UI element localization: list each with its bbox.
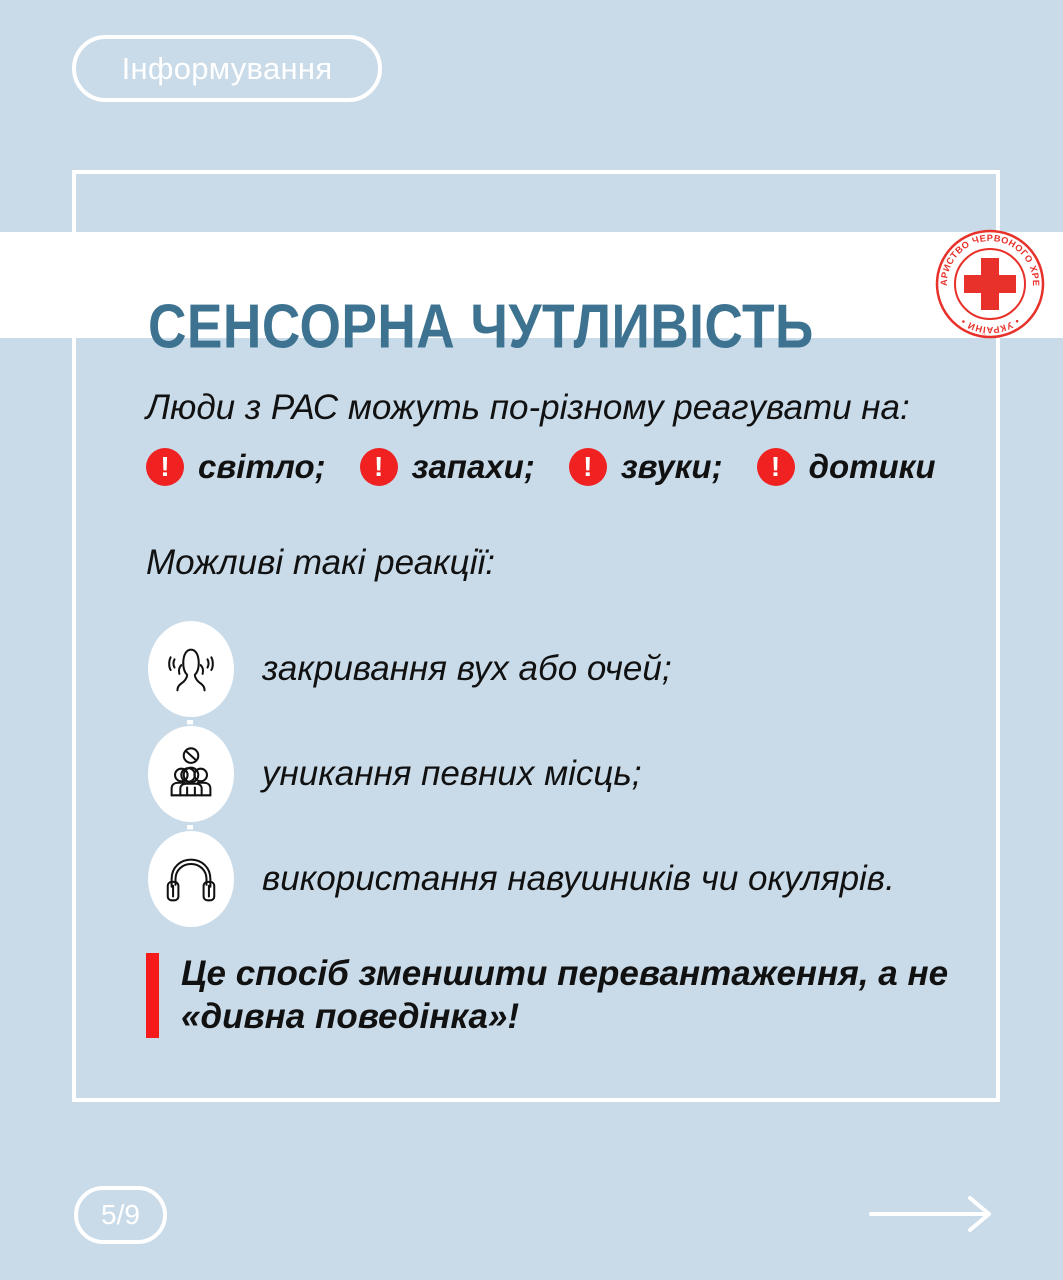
- ukrainian-red-cross-logo: ТОВАРИСТВО ЧЕРВОНОГО ХРЕСТА • УКРАЇНИ •: [934, 228, 1046, 340]
- trigger-label: світло;: [198, 448, 326, 486]
- page-indicator-badge: 5/9: [74, 1186, 167, 1244]
- category-pill: Інформування: [72, 35, 382, 102]
- reaction-item: використання навушників чи окулярів.: [148, 826, 968, 931]
- trigger-label: дотики: [809, 448, 936, 486]
- reaction-label: закривання вух або очей;: [262, 649, 672, 689]
- reaction-item: закривання вух або очей;: [148, 616, 968, 721]
- page-title: СЕНСОРНА ЧУТЛИВІСТЬ: [148, 291, 814, 362]
- lead-text: Люди з РАС можуть по-різному реагувати н…: [146, 388, 910, 428]
- covering-ears-icon: [148, 621, 234, 717]
- reactions-lead-text: Можливі такі реакції:: [146, 543, 495, 583]
- trigger-label: запахи;: [412, 448, 535, 486]
- exclamation-icon: !: [146, 448, 184, 486]
- trigger-list: ! світло; ! запахи; ! звуки; ! дотики: [146, 448, 936, 486]
- callout: Це спосіб зменшити перевантаження, а не …: [146, 953, 961, 1038]
- callout-text: Це спосіб зменшити перевантаження, а не …: [181, 953, 961, 1038]
- reaction-label: уникання певних місць;: [262, 754, 642, 794]
- headphones-icon: [148, 831, 234, 927]
- exclamation-icon: !: [569, 448, 607, 486]
- category-pill-label: Інформування: [122, 51, 333, 87]
- exclamation-icon: !: [360, 448, 398, 486]
- trigger-item: ! світло;: [146, 448, 326, 486]
- reaction-item: уникання певних місць;: [148, 721, 968, 826]
- trigger-label: звуки;: [621, 448, 723, 486]
- trigger-item: ! звуки;: [569, 448, 723, 486]
- callout-accent-bar: [146, 953, 159, 1038]
- arrow-right-icon[interactable]: [867, 1192, 997, 1236]
- title-band: СЕНСОРНА ЧУТЛИВІСТЬ: [0, 232, 1063, 338]
- avoid-crowd-icon: [148, 726, 234, 822]
- reaction-label: використання навушників чи окулярів.: [262, 859, 895, 899]
- reaction-list: закривання вух або очей;: [148, 616, 968, 931]
- exclamation-icon: !: [757, 448, 795, 486]
- trigger-item: ! запахи;: [360, 448, 535, 486]
- page-indicator-label: 5/9: [101, 1199, 140, 1231]
- trigger-item: ! дотики: [757, 448, 936, 486]
